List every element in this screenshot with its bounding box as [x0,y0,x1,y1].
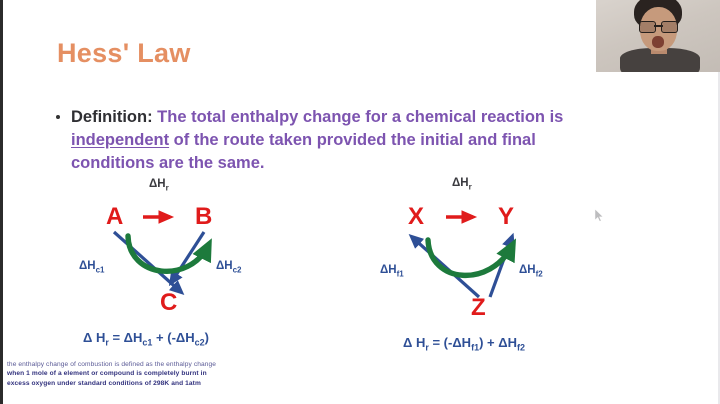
label-delta-h-f2: ΔHf2 [519,264,543,278]
definition-lead: Definition: [71,108,153,126]
glasses-icon [639,21,678,31]
label-delta-h-r: ΔHr [452,177,472,191]
label-delta-h-f1: ΔHf1 [380,264,404,278]
footnote-line-3: excess oxygen under standard conditions … [7,379,297,388]
definition-emphasis: independent [71,131,169,149]
label-delta-h-r: ΔHr [149,178,169,192]
footnote-line-2: when 1 mole of a element or compound is … [7,369,297,378]
slide-left-edge [0,0,3,404]
footnote-line-1: the enthalpy change of combustion is def… [7,360,297,369]
arrow-a-to-c [114,232,181,292]
webcam-video-overlay[interactable] [595,0,720,72]
formula-right: Δ Hr = (-ΔHf1) + ΔHf2 [403,335,525,353]
species-y: Y [498,203,514,231]
label-delta-h-c2: ΔHc2 [216,260,241,274]
footnote-definition: the enthalpy change of combustion is def… [7,360,297,388]
bullet-dot-icon [56,115,60,119]
species-x: X [408,203,424,231]
definition-text: Definition: The total enthalpy change fo… [71,106,616,175]
mouse-cursor-icon [594,208,605,223]
formation-cycle-diagram: ΔHr X Y Z ΔHf1 ΔHf2 Δ Hr = (-ΔHf1) + ΔHf… [386,172,666,357]
label-delta-h-c1: ΔHc1 [79,260,104,274]
species-c: C [160,289,177,317]
species-b: B [195,203,212,231]
species-z: Z [471,294,486,322]
presentation-slide: Hess' Law Definition: The total enthalpy… [0,0,720,404]
webcam-person-mouth [652,36,664,48]
page-title: Hess' Law [57,38,191,69]
arrow-z-to-x [412,237,479,297]
definition-part-1: The total enthalpy change for a chemical… [153,108,564,126]
species-a: A [106,203,123,231]
glasses-left-lens [639,21,656,33]
formula-left: Δ Hr = ΔHc1 + (-ΔHc2) [83,330,209,348]
combustion-cycle-diagram: ΔHr A B C ΔHc1 ΔHc2 Δ Hr = ΔHc1 + (-ΔHc2… [84,178,364,363]
glasses-right-lens [661,21,678,33]
definition-bullet: Definition: The total enthalpy change fo… [56,106,616,175]
